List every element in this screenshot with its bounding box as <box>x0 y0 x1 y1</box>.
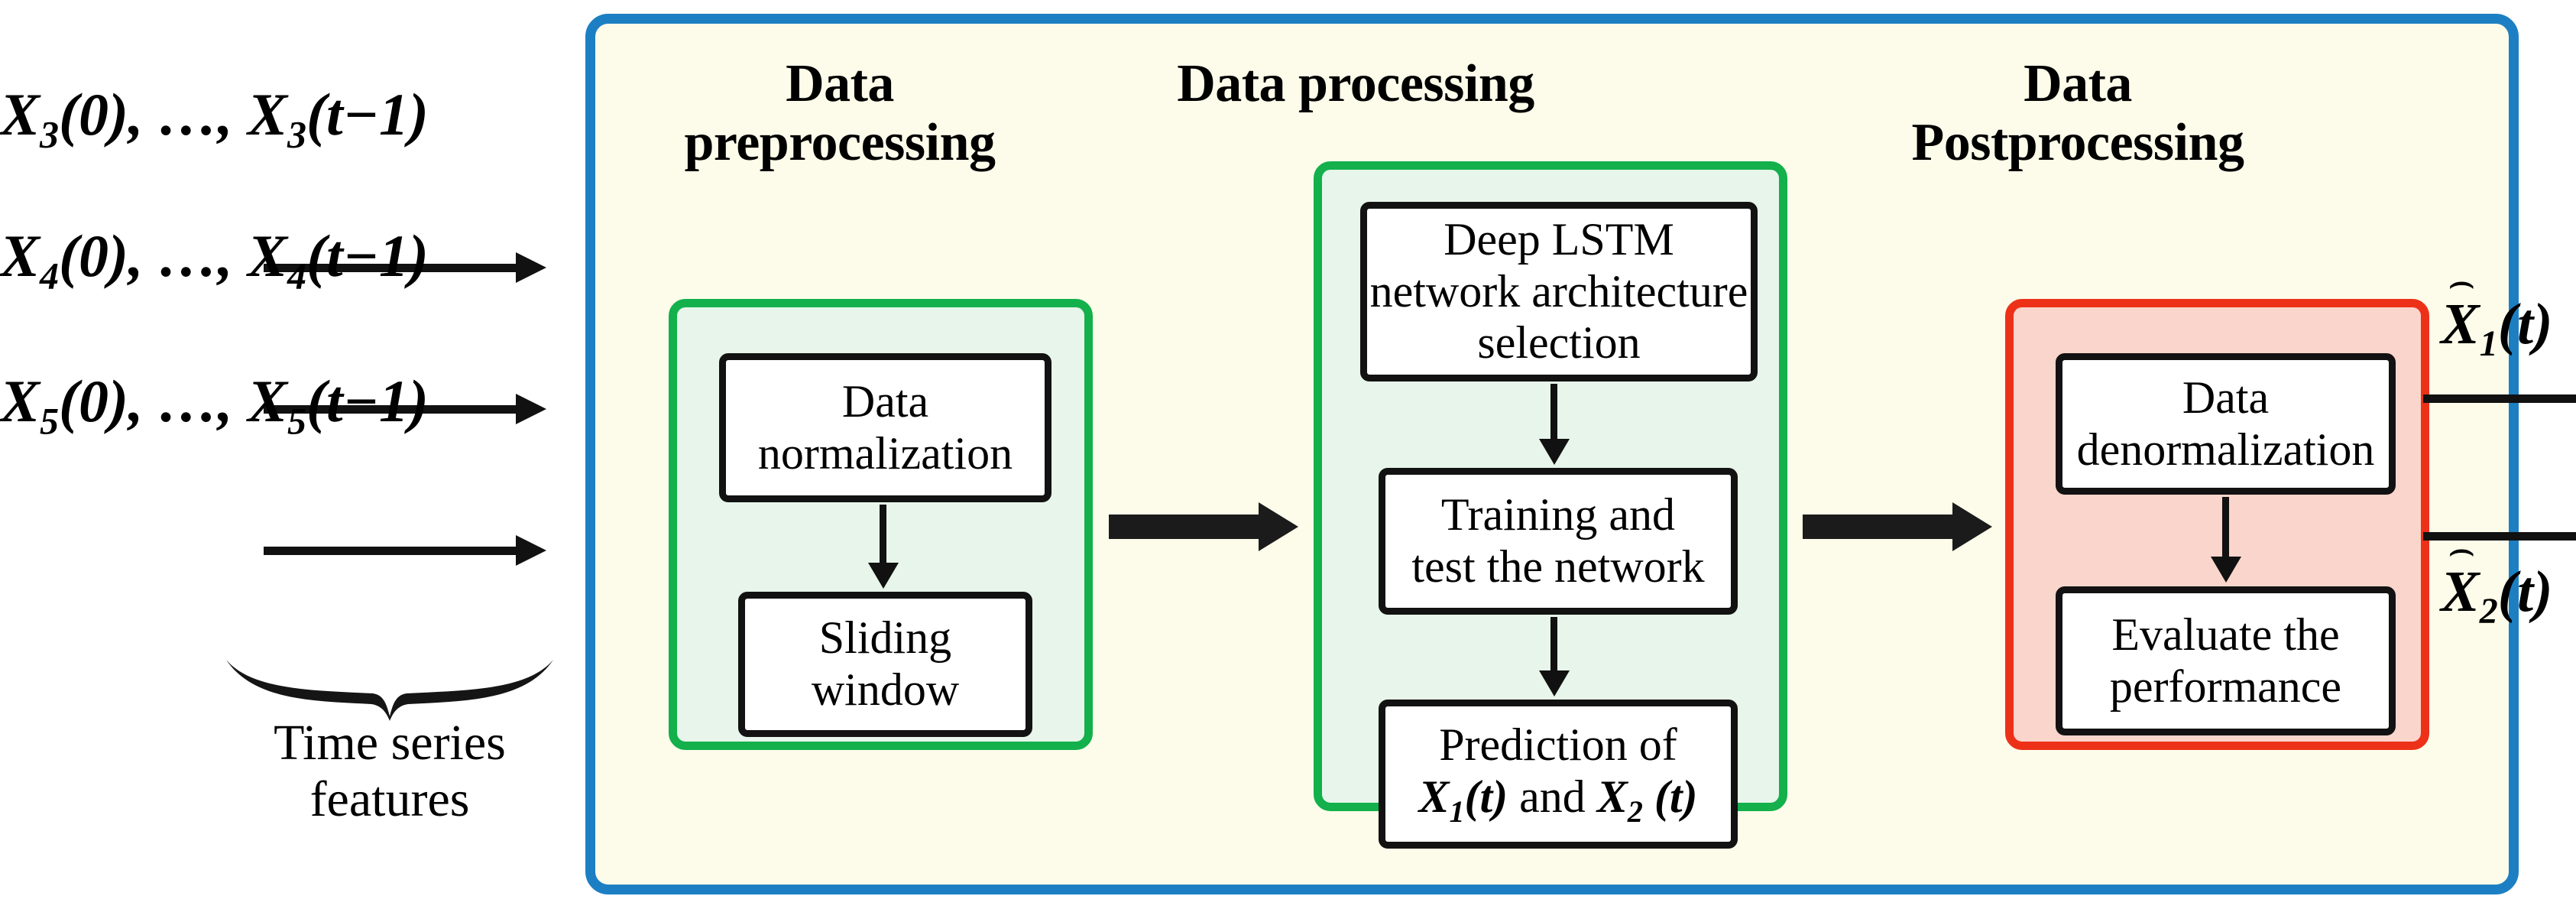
connector-denorm-to-evaluate <box>2211 497 2241 585</box>
step-line1: Prediction of <box>1419 719 1698 771</box>
step-box-evaluate-performance[interactable]: Evaluate the performance <box>2056 586 2396 735</box>
input-series-label-x5: X5(0), …, X5(t−1) <box>0 367 558 443</box>
arrow-right-icon <box>516 535 546 566</box>
step-box-data-normalization[interactable]: Data normalization <box>719 353 1051 502</box>
connector-normalization-to-sliding <box>868 505 899 589</box>
x1hat-symbol: ⌢X <box>2441 291 2480 358</box>
prediction-eq-and: and <box>1519 771 1597 822</box>
step-line1: Sliding <box>812 612 959 664</box>
step-box-lstm-architecture-selection[interactable]: Deep LSTM network architecture selection <box>1360 202 1758 381</box>
step-box-sliding-window[interactable]: Sliding window <box>738 592 1032 737</box>
pipeline-container: Data preprocessing Data processing Data … <box>585 14 2519 894</box>
prediction-eq-x1: X1(t) <box>1419 771 1508 822</box>
brace-caption-line2: features <box>229 771 550 828</box>
arrow-shaft <box>1550 617 1557 672</box>
section-title-postprocessing-line1: Data <box>1849 54 2307 113</box>
step-line1: Data <box>2077 372 2375 424</box>
group-postprocessing: Data denormalization Evaluate the perfor… <box>2005 299 2429 750</box>
block-arrow-right-icon <box>1259 502 1298 551</box>
arrow-shaft <box>1109 515 1262 539</box>
step-box-prediction[interactable]: Prediction of X1(t) and X2 (t) <box>1379 700 1738 849</box>
arrow-down-icon <box>868 563 899 589</box>
section-title-preprocessing-line1: Data <box>641 54 1039 113</box>
input-x3-text: X3(0), …, X3(t−1) <box>0 81 429 148</box>
input-x5-text: X5(0), …, X5(t−1) <box>0 368 429 434</box>
prediction-eq-x2: X2 (t) <box>1597 771 1698 822</box>
arrow-shaft <box>880 505 886 564</box>
arrow-down-icon <box>1539 670 1570 696</box>
section-title-processing: Data processing <box>1092 54 1619 113</box>
group-preprocessing: Data normalization Sliding window <box>669 299 1093 750</box>
step-line1: Data <box>758 376 1013 428</box>
step-line2: normalization <box>758 428 1013 480</box>
output-arrow-x1hat <box>2423 383 2576 414</box>
step-line3: selection <box>1370 317 1748 369</box>
input-series-label-x4: X4(0), …, X4(t−1) <box>0 222 558 298</box>
input-series-label-x3: X3(0), …, X3(t−1) <box>0 80 558 157</box>
step-line1: Evaluate the <box>2110 609 2341 661</box>
section-title-preprocessing-line2: preprocessing <box>641 113 1039 172</box>
arrow-shaft <box>1803 515 1955 539</box>
step-line2: performance <box>2110 661 2341 713</box>
curly-brace-down-icon <box>222 654 558 722</box>
connector-arch-to-training <box>1539 384 1570 466</box>
arrow-shaft <box>1550 384 1557 440</box>
input-brace-caption: Time series features <box>229 715 550 828</box>
step-line1: Deep LSTM <box>1370 214 1748 266</box>
step-box-training-and-test[interactable]: Training and test the network <box>1379 468 1738 615</box>
step-line2: test the network <box>1411 541 1704 593</box>
input-x4-text: X4(0), …, X4(t−1) <box>0 222 429 289</box>
output-arrow-x2hat <box>2423 521 2576 551</box>
section-title-processing-line1: Data processing <box>1092 54 1619 113</box>
arrow-shaft <box>2423 394 2576 403</box>
arrow-shaft <box>264 547 520 555</box>
section-title-postprocessing: Data Postprocessing <box>1849 54 2307 172</box>
arrow-shaft <box>2222 497 2229 558</box>
x2hat-symbol: ⌢X <box>2441 559 2480 625</box>
connector-pre-to-proc <box>1109 502 1300 551</box>
section-title-postprocessing-line2: Postprocessing <box>1849 113 2307 172</box>
connector-proc-to-post <box>1803 502 1994 551</box>
brace-caption-line1: Time series <box>229 715 550 771</box>
section-title-preprocessing: Data preprocessing <box>641 54 1039 172</box>
block-arrow-right-icon <box>1952 502 1992 551</box>
arrow-down-icon <box>1539 439 1570 465</box>
arrow-down-icon <box>2211 557 2241 583</box>
input-arrow-x5 <box>264 535 546 566</box>
step-prediction-equation: X1(t) and X2 (t) <box>1419 771 1698 829</box>
step-line2: network architecture <box>1370 266 1748 318</box>
output-label-x1hat: ⌢X1(t) <box>2441 291 2552 365</box>
step-box-data-denormalization[interactable]: Data denormalization <box>2056 353 2396 495</box>
group-processing: Deep LSTM network architecture selection… <box>1314 161 1787 811</box>
flowchart-figure: X3(0), …, X3(t−1) X4(0), …, X4(t−1) X5(0… <box>0 0 2576 922</box>
connector-training-to-prediction <box>1539 617 1570 700</box>
step-line1: Training and <box>1411 489 1704 541</box>
step-line2: denormalization <box>2077 424 2375 476</box>
step-line2: window <box>812 664 959 716</box>
arrow-shaft <box>2423 532 2576 541</box>
output-label-x2hat: ⌢X2(t) <box>2441 559 2552 632</box>
